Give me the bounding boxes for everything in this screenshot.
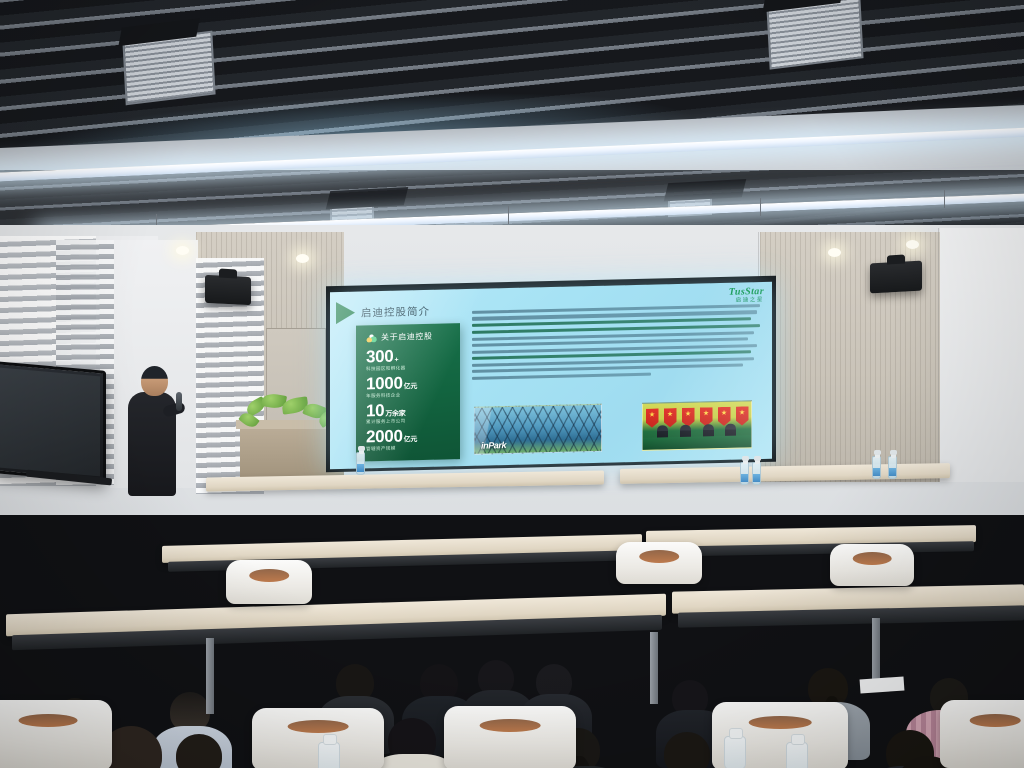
water-bottle [872,456,881,479]
light-hanger [944,190,945,208]
chair[interactable] [0,700,112,768]
air-vent-icon [766,0,863,70]
slide-title-row: 启迪控股简介 [336,300,430,324]
chair[interactable] [830,544,914,586]
water-bottle [740,462,749,485]
stat-item: 300+ 科技园区和孵化器 [366,346,452,372]
downlight-icon [828,248,841,257]
water-bottle [888,456,897,479]
stats-panel-title: 关于启迪控股 [381,331,433,343]
water-bottle [786,742,808,768]
stat-unit: + [394,357,398,364]
wall-wood-panel-right [760,232,956,482]
stats-panel: 关于启迪控股 300+ 科技园区和孵化器 1000亿元 年服务科技企业 10万余… [356,323,460,461]
downlight-icon [296,254,309,263]
park-photo-caption: inPark [481,440,506,451]
stats-panel-header: 关于启迪控股 [366,330,452,343]
water-bottle [356,452,365,475]
chair[interactable] [940,700,1024,768]
presenter-head [141,366,168,396]
downlight-icon [906,240,919,249]
stat-value: 1000 [366,373,403,393]
chair[interactable] [616,542,702,584]
wall-monitor-screen [0,368,100,477]
chair[interactable] [444,706,576,768]
wall-seam [938,228,939,482]
stat-item: 2000亿元 管辖资产规模 [366,427,452,453]
ceremony-table [643,435,751,450]
triangle-marker-icon [336,302,355,324]
tus-logo-icon [366,333,377,342]
stat-caption: 累计服务上市公司 [366,418,452,426]
tus-park-photo: inPark [474,404,602,455]
stat-caption: 年服务科技企业 [366,391,452,399]
water-bottle [318,742,340,768]
slide-body-text [472,304,760,383]
signing-ceremony-photo [642,400,752,451]
conference-room-scene: 启迪控股简介 TusStar 启迪之星 关于启迪控股 300+ 科技园区和孵化器… [0,0,1024,768]
brand-logo: TusStar 启迪之星 [729,287,764,304]
table-leg [206,638,214,714]
light-hanger [508,206,509,224]
stat-item: 10万余家 累计服务上市公司 [366,400,452,426]
microphone-icon [176,392,182,411]
wall-monitor[interactable] [0,361,106,483]
air-vent-icon [122,31,215,106]
stat-caption: 管辖资产规模 [366,445,452,453]
wall-speaker [205,275,251,305]
water-bottle [752,462,761,485]
wall-speaker [870,261,922,294]
paper-sheet [860,676,905,693]
table-leg [650,632,658,704]
projection-screen[interactable]: 启迪控股简介 TusStar 启迪之星 关于启迪控股 300+ 科技园区和孵化器… [330,282,772,469]
light-hanger [760,198,761,216]
stat-value: 300 [366,347,393,367]
downlight-icon [176,246,189,255]
stat-unit: 万余家 [385,410,405,417]
stat-unit: 亿元 [404,437,417,444]
slide-title: 启迪控股简介 [361,303,430,320]
stat-value: 2000 [366,427,403,447]
chair[interactable] [226,560,312,604]
water-bottle [724,736,746,768]
stat-value: 10 [366,401,384,420]
stat-caption: 科技园区和孵化器 [366,364,452,372]
wall-panel-far-right [940,228,1024,482]
stat-item: 1000亿元 年服务科技企业 [366,373,452,399]
stat-unit: 亿元 [404,383,417,390]
